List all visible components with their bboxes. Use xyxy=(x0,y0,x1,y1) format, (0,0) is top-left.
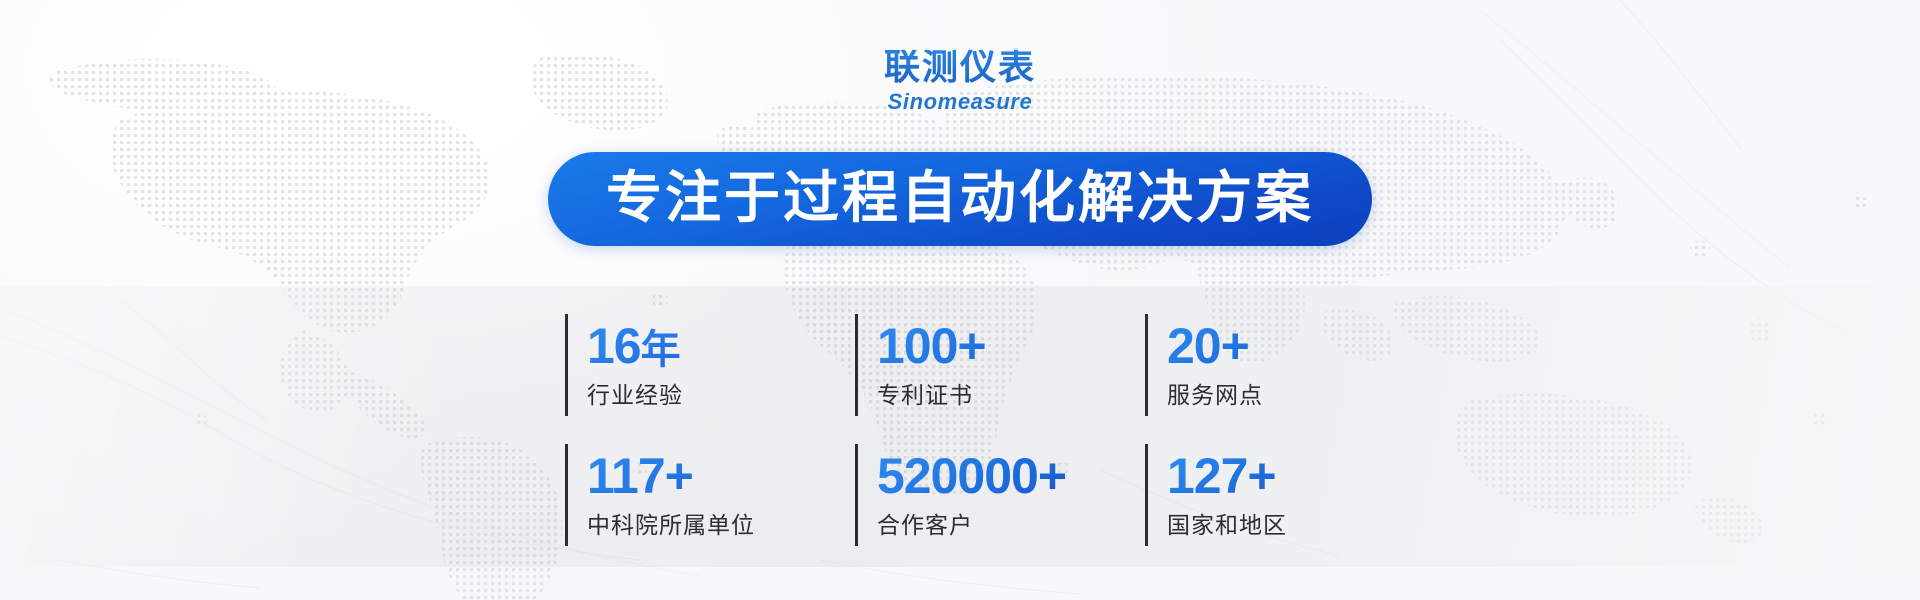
stat-item-countries: 127+ 国家和地区 xyxy=(1145,430,1355,560)
brand-logo: 联测仪表 Sinomeasure xyxy=(0,50,1920,113)
stat-label: 服务网点 xyxy=(1167,376,1355,410)
stat-item-industry-experience: 16年 行业经验 xyxy=(565,300,855,430)
stat-number: 100+ xyxy=(877,318,986,374)
stat-number: 520000+ xyxy=(877,448,1066,504)
brand-name-cn: 联测仪表 xyxy=(0,50,1920,86)
stat-label: 专利证书 xyxy=(877,376,1145,410)
stat-item-patents: 100+ 专利证书 xyxy=(855,300,1145,430)
brand-name-en: Sinomeasure xyxy=(0,91,1920,113)
headline-pill-wrapper: 专注于过程自动化解决方案 xyxy=(0,152,1920,246)
stat-value: 100+ xyxy=(877,321,1145,372)
stat-item-cas-units: 117+ 中科院所属单位 xyxy=(565,430,855,560)
stat-label: 合作客户 xyxy=(877,506,1145,540)
headline-text: 专注于过程自动化解决方案 xyxy=(606,171,1314,227)
headline-pill: 专注于过程自动化解决方案 xyxy=(548,152,1372,246)
stat-label: 中科院所属单位 xyxy=(587,506,855,540)
stats-grid: 16年 行业经验 100+ 专利证书 20+ 服务网点 117+ 中科院所属单位… xyxy=(565,300,1355,560)
stat-value: 20+ xyxy=(1167,321,1355,372)
stat-label: 国家和地区 xyxy=(1167,506,1355,540)
stat-number: 117+ xyxy=(587,448,693,504)
stat-item-service-sites: 20+ 服务网点 xyxy=(1145,300,1355,430)
stat-label: 行业经验 xyxy=(587,376,855,410)
banner-content: 联测仪表 Sinomeasure 专注于过程自动化解决方案 16年 行业经验 1… xyxy=(0,0,1920,600)
stat-number: 20+ xyxy=(1167,318,1249,374)
stat-value: 16年 xyxy=(587,321,855,372)
stat-number: 16 xyxy=(587,318,641,374)
stat-value: 117+ xyxy=(587,451,855,502)
stat-number: 127+ xyxy=(1167,448,1276,504)
stat-unit: 年 xyxy=(641,327,680,373)
stat-value: 520000+ xyxy=(877,451,1145,502)
stat-value: 127+ xyxy=(1167,451,1355,502)
stat-item-customers: 520000+ 合作客户 xyxy=(855,430,1145,560)
promo-banner: 联测仪表 Sinomeasure 专注于过程自动化解决方案 16年 行业经验 1… xyxy=(0,0,1920,600)
